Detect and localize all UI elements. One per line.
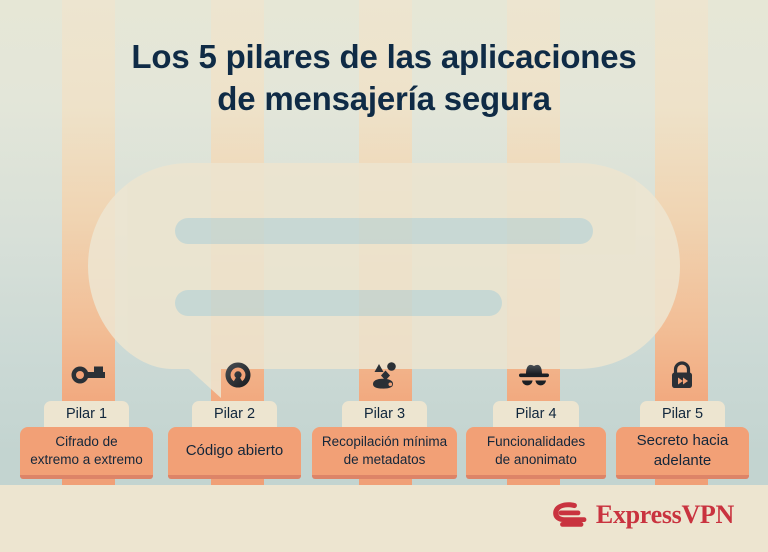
- pillar-card-4-line-1: Funcionalidades: [487, 434, 585, 449]
- lock-forward-icon: [655, 355, 708, 395]
- pillar-card-5-line-1: Secreto hacia: [637, 432, 729, 449]
- pillar-card-3-line-2: de metadatos: [344, 452, 426, 467]
- pillar-card-1-line-1: Cifrado de: [55, 434, 117, 449]
- expressvpn-logo[interactable]: ExpressVPN: [551, 500, 734, 530]
- pillar-tab-5: Pilar 5: [640, 401, 725, 427]
- pillar-card-5: Secreto hacia adelante: [616, 427, 749, 479]
- pillar-tab-1: Pilar 1: [44, 401, 129, 427]
- pillar-card-3-line-1: Recopilación mínima: [322, 434, 447, 449]
- pillar-label-2[interactable]: Pilar 2 Código abierto: [168, 401, 301, 479]
- key-icon: [62, 355, 115, 395]
- pillar-card-4: Funcionalidades de anonimato: [466, 427, 606, 479]
- pillar-label-3[interactable]: Pilar 3 Recopilación mínima de metadatos: [312, 401, 457, 479]
- pillar-card-1-line-2: extremo a extremo: [30, 452, 143, 467]
- page-title-line-2: de mensajería segura: [0, 78, 768, 120]
- pillar-card-1: Cifrado de extremo a extremo: [20, 427, 153, 479]
- data-collection-icon: [359, 355, 412, 395]
- infographic-canvas: Los 5 pilares de las aplicaciones de men…: [0, 0, 768, 552]
- pillar-label-5[interactable]: Pilar 5 Secreto hacia adelante: [616, 401, 749, 479]
- page-title-line-1: Los 5 pilares de las aplicaciones: [0, 36, 768, 78]
- expressvpn-wordmark: ExpressVPN: [596, 500, 734, 530]
- pillar-card-4-line-2: de anonimato: [495, 452, 577, 467]
- incognito-hat-icon: [507, 355, 560, 395]
- pillar-card-3: Recopilación mínima de metadatos: [312, 427, 457, 479]
- pillar-card-2: Código abierto: [168, 427, 301, 479]
- page-title: Los 5 pilares de las aplicaciones de men…: [0, 36, 768, 120]
- pillar-tab-4: Pilar 4: [493, 401, 578, 427]
- pillar-tab-2: Pilar 2: [192, 401, 277, 427]
- pillar-tab-3: Pilar 3: [342, 401, 427, 427]
- expressvpn-e-icon: [551, 500, 587, 530]
- pillar-label-4[interactable]: Pilar 4 Funcionalidades de anonimato: [466, 401, 606, 479]
- pillar-card-2-line-1: Código abierto: [186, 441, 284, 460]
- open-source-icon: [211, 355, 264, 395]
- pillar-label-1[interactable]: Pilar 1 Cifrado de extremo a extremo: [20, 401, 153, 479]
- pillar-card-5-line-2: adelante: [654, 452, 712, 469]
